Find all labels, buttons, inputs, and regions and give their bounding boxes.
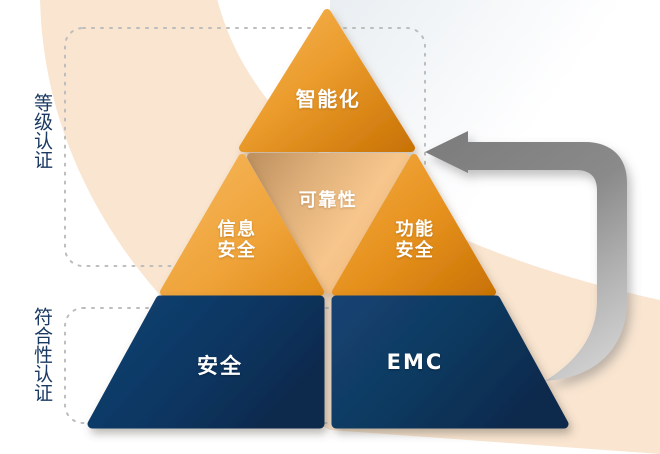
diagram-canvas: 等级认证 符合性认证 智能化 可靠性 信息 安全 功能 安全 安全 EMC: [0, 0, 660, 454]
side-label-level-certification: 等级认证: [31, 93, 52, 169]
tier-base-safety[interactable]: [92, 300, 320, 424]
side-label-compliance-certification: 符合性认证: [31, 307, 52, 402]
tier-base-emc[interactable]: [336, 300, 564, 424]
pyramid-graphic: [0, 0, 660, 454]
tier-apex-smart[interactable]: [243, 13, 411, 148]
